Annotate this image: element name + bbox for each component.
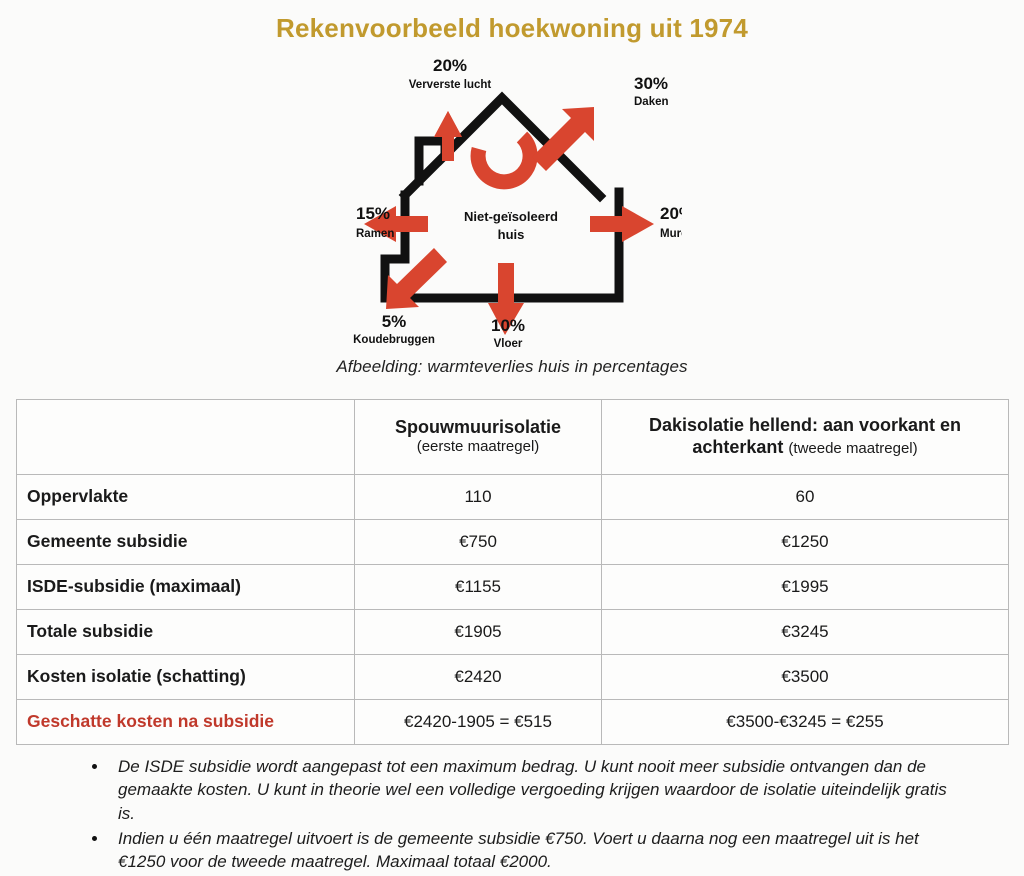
- table-row: Gemeente subsidie€750€1250: [17, 519, 1009, 564]
- header-blank: [17, 399, 355, 474]
- cell-dakisolatie: €3500: [602, 654, 1009, 699]
- table-head: Spouwmuurisolatie (eerste maatregel) Dak…: [17, 399, 1009, 474]
- header-dakisolatie-sub: (tweede maatregel): [788, 440, 917, 457]
- page-title: Rekenvoorbeeld hoekwoning uit 1974: [0, 14, 1024, 43]
- thermal-bridge-percent: 5%: [382, 312, 407, 331]
- note-text: De ISDE subsidie wordt aangepast tot een…: [118, 757, 947, 823]
- ventilation-percent: 20%: [433, 56, 467, 75]
- note-item: De ISDE subsidie wordt aangepast tot een…: [86, 755, 964, 825]
- cell-dakisolatie: €3245: [602, 609, 1009, 654]
- windows-label: Ramen: [356, 228, 394, 240]
- table-body: Oppervlakte11060Gemeente subsidie€750€12…: [17, 474, 1009, 744]
- floor-label: Vloer: [494, 338, 523, 349]
- row-label: Geschatte kosten na subsidie: [17, 699, 355, 744]
- table-header-row: Spouwmuurisolatie (eerste maatregel) Dak…: [17, 399, 1009, 474]
- house-interior-label-line1: Niet-geïsoleerd: [464, 209, 558, 224]
- row-label: Gemeente subsidie: [17, 519, 355, 564]
- row-label: ISDE-subsidie (maximaal): [17, 564, 355, 609]
- header-spouwmuurisolatie-sub: (eerste maatregel): [365, 438, 591, 457]
- bullet-dot-icon: [92, 836, 97, 841]
- walls-loss-arrow-icon: [590, 206, 654, 242]
- header-dakisolatie: Dakisolatie hellend: aan voorkant en ach…: [602, 399, 1009, 474]
- walls-label: Muren: [660, 228, 682, 240]
- note-item: Indien u één maatregel uitvoert is de ge…: [86, 827, 964, 874]
- row-label: Totale subsidie: [17, 609, 355, 654]
- cell-dakisolatie: 60: [602, 474, 1009, 519]
- walls-percent: 20%: [660, 204, 682, 223]
- table-row: Oppervlakte11060: [17, 474, 1009, 519]
- cell-spouwmuurisolatie: €2420-1905 = €515: [355, 699, 602, 744]
- table-row: ISDE-subsidie (maximaal)€1155€1995: [17, 564, 1009, 609]
- figure-caption: Afbeelding: warmteverlies huis in percen…: [0, 357, 1024, 377]
- table-row: Totale subsidie€1905€3245: [17, 609, 1009, 654]
- row-label: Oppervlakte: [17, 474, 355, 519]
- note-text: Indien u één maatregel uitvoert is de ge…: [118, 829, 919, 871]
- notes-list: De ISDE subsidie wordt aangepast tot een…: [86, 755, 964, 874]
- cell-dakisolatie: €1250: [602, 519, 1009, 564]
- roof-percent: 30%: [634, 74, 668, 93]
- table-row: Kosten isolatie (schatting)€2420€3500: [17, 654, 1009, 699]
- row-label: Kosten isolatie (schatting): [17, 654, 355, 699]
- cell-spouwmuurisolatie: €1905: [355, 609, 602, 654]
- cost-table-container: Spouwmuurisolatie (eerste maatregel) Dak…: [16, 399, 1008, 745]
- cell-dakisolatie: €3500-€3245 = €255: [602, 699, 1009, 744]
- heat-loss-figure: Niet-geïsoleerd huis 20% Ververste lucht…: [0, 49, 1024, 349]
- house-interior-label-line2: huis: [498, 227, 525, 242]
- cost-comparison-table: Spouwmuurisolatie (eerste maatregel) Dak…: [16, 399, 1009, 745]
- header-spouwmuurisolatie: Spouwmuurisolatie (eerste maatregel): [355, 399, 602, 474]
- floor-percent: 10%: [491, 316, 525, 335]
- ventilation-label: Ververste lucht: [409, 79, 492, 91]
- cell-spouwmuurisolatie: €750: [355, 519, 602, 564]
- windows-percent: 15%: [356, 204, 390, 223]
- header-spouwmuurisolatie-main: Spouwmuurisolatie: [395, 417, 561, 437]
- house-heat-loss-diagram: Niet-geïsoleerd huis 20% Ververste lucht…: [342, 49, 682, 349]
- table-row: Geschatte kosten na subsidie€2420-1905 =…: [17, 699, 1009, 744]
- roof-label: Daken: [634, 96, 669, 108]
- bullet-dot-icon: [92, 764, 97, 769]
- cell-dakisolatie: €1995: [602, 564, 1009, 609]
- cell-spouwmuurisolatie: €1155: [355, 564, 602, 609]
- cell-spouwmuurisolatie: €2420: [355, 654, 602, 699]
- cell-spouwmuurisolatie: 110: [355, 474, 602, 519]
- thermal-bridge-label: Koudebruggen: [353, 334, 435, 346]
